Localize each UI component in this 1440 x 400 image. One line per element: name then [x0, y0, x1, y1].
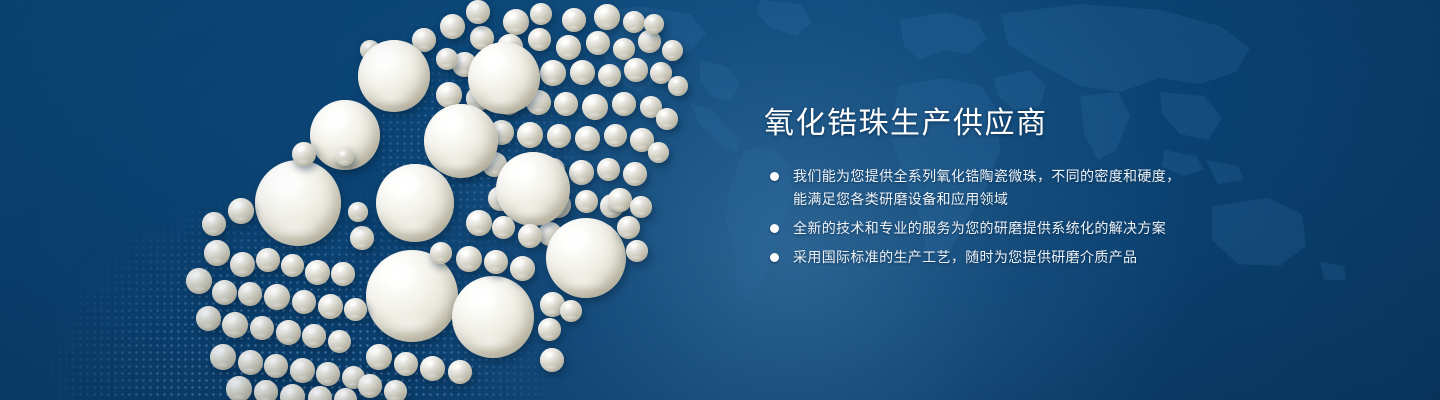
feature-list: 我们能为您提供全系列氧化锆陶瓷微珠，不同的密度和硬度， 能满足您各类研磨设备和应… [764, 165, 1234, 269]
halftone-pattern-lower [0, 90, 700, 400]
list-item: 全新的技术和专业的服务为您的研磨提供系统化的解决方案 [764, 217, 1234, 240]
list-item-text: 我们能为您提供全系列氧化锆陶瓷微珠，不同的密度和硬度， [793, 168, 1180, 184]
bullet-dot-icon [770, 253, 779, 262]
hero-banner: 氧化锆珠生产供应商 我们能为您提供全系列氧化锆陶瓷微珠，不同的密度和硬度， 能满… [0, 0, 1440, 400]
list-item-text: 采用国际标准的生产工艺，随时为您提供研磨介质产品 [793, 249, 1137, 265]
list-item-text-line2: 能满足您各类研磨设备和应用领域 [793, 188, 1234, 211]
bullet-dot-icon [770, 172, 779, 181]
halftone-pattern-upper [380, 0, 800, 300]
bullet-dot-icon [770, 224, 779, 233]
page-title: 氧化锆珠生产供应商 [764, 104, 1234, 144]
list-item: 我们能为您提供全系列氧化锆陶瓷微珠，不同的密度和硬度， 能满足您各类研磨设备和应… [764, 165, 1234, 211]
zirconia-beads-photo [0, 0, 740, 400]
list-item: 采用国际标准的生产工艺，随时为您提供研磨介质产品 [764, 246, 1234, 269]
banner-copy: 氧化锆珠生产供应商 我们能为您提供全系列氧化锆陶瓷微珠，不同的密度和硬度， 能满… [764, 104, 1234, 269]
list-item-text: 全新的技术和专业的服务为您的研磨提供系统化的解决方案 [793, 220, 1166, 236]
